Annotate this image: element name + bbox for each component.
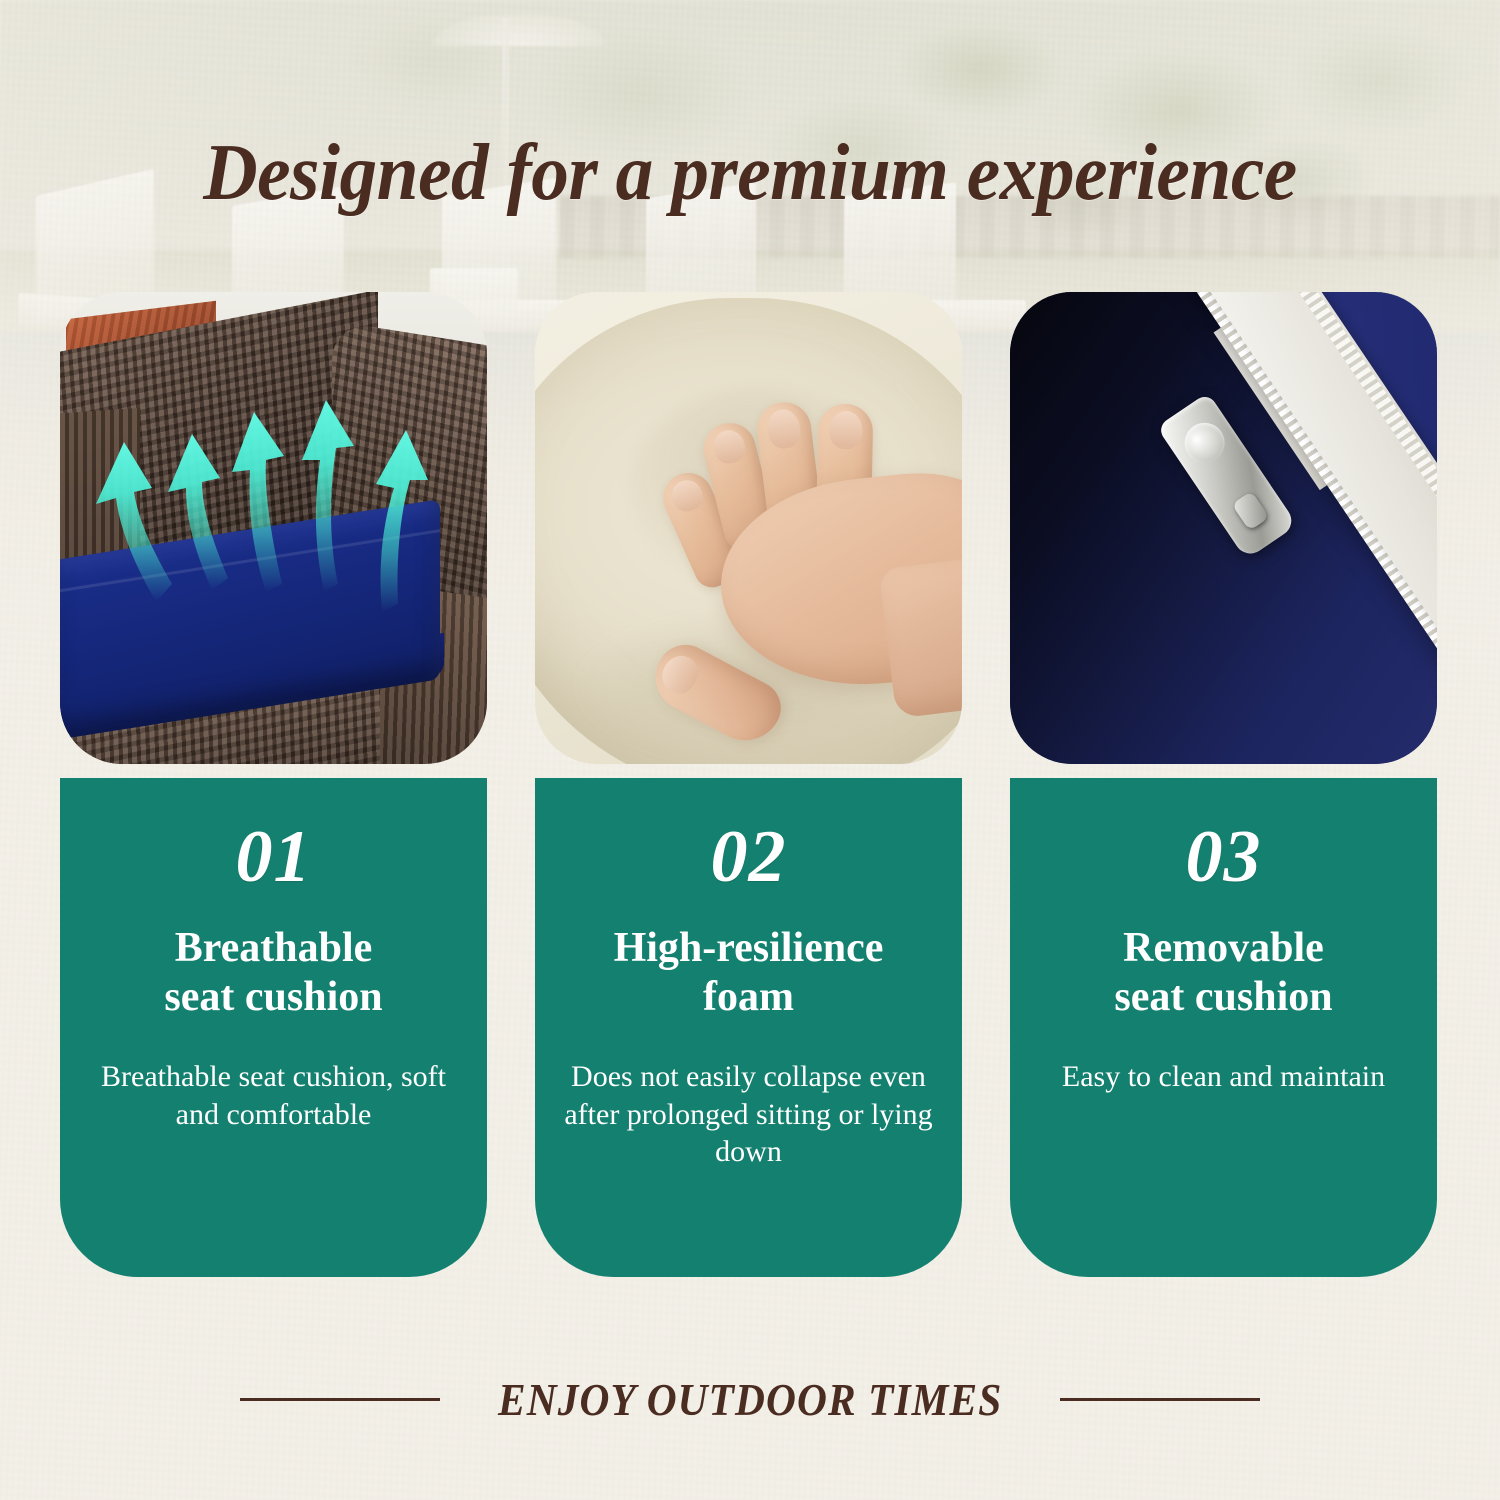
card-description-01: Breathable seat cushion, soft and comfor…	[82, 1058, 465, 1134]
infographic-page: Designed for a premium experience	[0, 0, 1500, 1500]
airflow-arrow-3	[232, 412, 284, 592]
fingernail	[710, 427, 748, 467]
footer-rule-left	[240, 1398, 440, 1401]
card-photo-breathable-cushion	[60, 292, 487, 764]
card-title-03: Removable seat cushion	[1114, 924, 1332, 1021]
airflow-arrow-5	[376, 430, 428, 612]
feature-card-03[interactable]: 03 Removable seat cushion Easy to clean …	[1010, 292, 1437, 1277]
card-number-01: 01	[236, 822, 312, 892]
feature-card-list: 01 Breathable seat cushion Breathable se…	[60, 292, 1437, 1277]
card-number-03: 03	[1186, 822, 1262, 892]
card-number-02: 02	[711, 822, 787, 892]
card-title-line1: High-resilience	[614, 925, 884, 971]
card-title-line1: Removable	[1123, 925, 1324, 971]
fingernail	[667, 475, 707, 515]
card-panel-03: 03 Removable seat cushion Easy to clean …	[1010, 778, 1437, 1277]
fingernail	[829, 411, 863, 450]
hand-graphic	[535, 292, 962, 764]
fingernail	[656, 649, 704, 699]
fingernail	[766, 408, 803, 451]
wrist	[878, 551, 962, 718]
card-gap	[535, 764, 962, 778]
card-description-02: Does not easily collapse even after prol…	[557, 1058, 940, 1171]
card-gap	[1010, 764, 1437, 778]
airflow-arrows-group	[60, 292, 487, 764]
card-title-01: Breathable seat cushion	[164, 924, 382, 1021]
card-description-03: Easy to clean and maintain	[1062, 1058, 1385, 1096]
card-title-line2: seat cushion	[1114, 974, 1332, 1020]
zipper-pull-hole	[1177, 415, 1233, 471]
card-title-line1: Breathable	[175, 925, 373, 971]
airflow-arrow-4	[302, 400, 354, 592]
card-title-line2: foam	[703, 974, 794, 1020]
feature-card-02[interactable]: 02 High-resilience foam Does not easily …	[535, 292, 962, 1277]
card-photo-resilient-foam	[535, 292, 962, 764]
zipper-pull-pin	[1232, 491, 1270, 531]
footer-tagline-bar: ENJOY OUTDOOR TIMES	[0, 1368, 1500, 1430]
footer-tagline: ENJOY OUTDOOR TIMES	[498, 1373, 1002, 1426]
page-title: Designed for a premium experience	[53, 126, 1448, 219]
airflow-arrow-2	[168, 434, 228, 590]
feature-card-01[interactable]: 01 Breathable seat cushion Breathable se…	[60, 292, 487, 1277]
card-title-02: High-resilience foam	[614, 924, 884, 1021]
footer-rule-right	[1060, 1398, 1260, 1401]
card-photo-removable-cushion	[1010, 292, 1437, 764]
card-title-line2: seat cushion	[164, 974, 382, 1020]
card-panel-01: 01 Breathable seat cushion Breathable se…	[60, 778, 487, 1277]
card-gap	[60, 764, 487, 778]
arrow-shapes	[96, 400, 428, 612]
airflow-arrow-1	[96, 442, 172, 602]
card-panel-02: 02 High-resilience foam Does not easily …	[535, 778, 962, 1277]
